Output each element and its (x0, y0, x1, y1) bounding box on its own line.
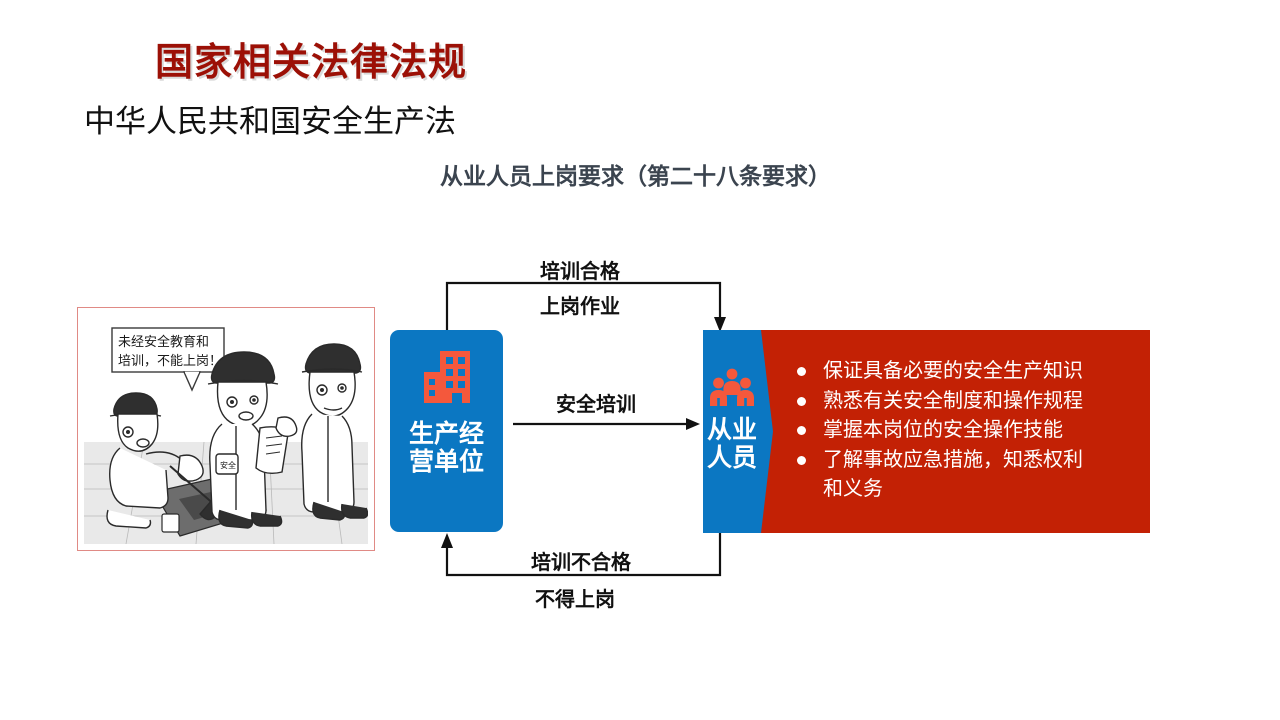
requirements-list: 保证具备必要的安全生产知识 熟悉有关安全制度和操作规程 掌握本岗位的安全操作技能… (795, 356, 1140, 504)
node-production-unit: 生产经 营单位 (390, 330, 503, 532)
label-training-failed: 培训不合格 (531, 546, 631, 575)
employee-chevron-shape (703, 330, 773, 533)
requirement-text-continued: 和义务 (823, 474, 1140, 504)
label-safety-training: 安全培训 (556, 388, 636, 417)
building-icon (418, 348, 476, 406)
armband-text: 安全 (220, 460, 236, 470)
requirement-text: 熟悉有关安全制度和操作规程 (823, 388, 1083, 412)
safety-training-cartoon: 未经安全教育和 培训，不能上岗！ (84, 314, 368, 544)
list-item: 保证具备必要的安全生产知识 (795, 356, 1140, 386)
list-item: 掌握本岗位的安全操作技能 (795, 415, 1140, 445)
slide-subtitle: 中华人民共和国安全生产法 (84, 96, 456, 141)
node-production-unit-label: 生产经 营单位 (409, 420, 484, 476)
arrowhead-right (686, 418, 700, 430)
list-item: 了解事故应急措施，知悉权利 和义务 (795, 445, 1140, 504)
bullet-dot-icon (797, 456, 806, 465)
requirement-text: 掌握本岗位的安全操作技能 (823, 417, 1063, 441)
bullet-dot-icon (797, 397, 806, 406)
arrowhead-up (441, 533, 453, 548)
speech-line-2: 培训，不能上岗！ (118, 353, 222, 369)
page-title: 国家相关法律法规 (155, 31, 467, 86)
bullet-dot-icon (797, 426, 806, 435)
producer-label-line1: 生产经 (409, 419, 484, 448)
requirement-text: 保证具备必要的安全生产知识 (823, 358, 1083, 382)
speech-line-1: 未经安全教育和 (118, 334, 209, 350)
section-heading: 从业人员上岗要求（第二十八条要求） (440, 157, 831, 191)
requirement-text: 了解事故应急措施，知悉权利 (823, 447, 1083, 471)
bullet-dot-icon (797, 367, 806, 376)
label-no-work-permitted: 不得上岗 (535, 583, 615, 612)
connector-training (513, 418, 700, 430)
node-employees-panel: 从业 人员 保证具备必要的安全生产知识 熟悉有关安全制度和操作规程 掌握本岗位的… (703, 330, 1150, 533)
label-start-work: 上岗作业 (540, 290, 620, 319)
list-item: 熟悉有关安全制度和操作规程 (795, 386, 1140, 416)
illustration-frame: 未经安全教育和 培训，不能上岗！ (77, 307, 375, 551)
label-training-passed: 培训合格 (540, 255, 620, 284)
producer-label-line2: 营单位 (409, 447, 484, 476)
